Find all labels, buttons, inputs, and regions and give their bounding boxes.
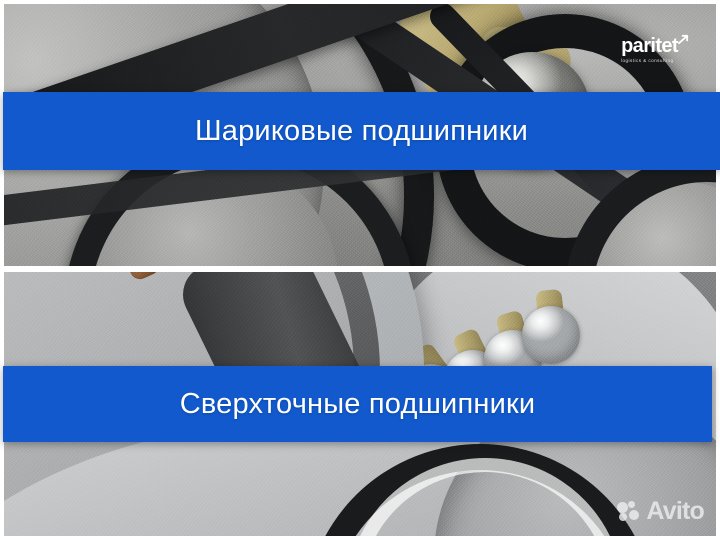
brand-logo: paritet logistics & consulting (621, 36, 678, 64)
listing-image-canvas: paritet logistics & consulting Шариковые… (0, 0, 720, 540)
avito-dots-icon (617, 501, 641, 522)
banner-title-bottom: Сверхточные подшипники (180, 390, 536, 419)
avito-watermark: Avito (617, 499, 704, 524)
brand-name: paritet (621, 36, 678, 56)
banner-title-top: Шариковые подшипники (195, 117, 528, 146)
banner-precision-bearings: Сверхточные подшипники (3, 366, 712, 442)
banner-ball-bearings: Шариковые подшипники (3, 92, 720, 170)
avito-wordmark: Avito (646, 499, 704, 524)
brand-tagline: logistics & consulting (621, 59, 678, 64)
arrow-up-right-icon (678, 34, 689, 45)
